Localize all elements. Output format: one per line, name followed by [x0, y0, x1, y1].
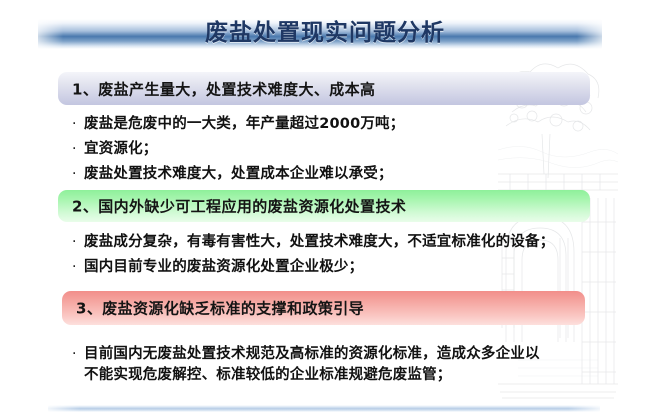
bullet-dot-icon: ·: [72, 164, 84, 185]
bullet-dot-icon: ·: [72, 257, 84, 278]
list-item: · 国内目前专业的废盐资源化处置企业极少；: [72, 257, 632, 278]
bullet-text: 废盐成分复杂，有毒有害性大，处置技术难度大，不适宜标准化的设备；: [84, 232, 554, 253]
bullet-text: 废盐处置技术难度大，处置成本企业难以承受；: [84, 164, 393, 185]
list-item: · 宜资源化；: [72, 139, 592, 160]
section-1-bullets: · 废盐是危废中的一大类，年产量超过2000万吨； · 宜资源化； · 废盐处置…: [72, 114, 592, 189]
section-2-bullets: · 废盐成分复杂，有毒有害性大，处置技术难度大，不适宜标准化的设备； · 国内目…: [72, 232, 632, 282]
bullet-text: 宜资源化；: [84, 139, 158, 160]
section-header-2: 2、国内外缺少可工程应用的废盐资源化处置技术: [58, 190, 590, 222]
bullet-text: 废盐是危废中的一大类，年产量超过2000万吨；: [84, 114, 404, 135]
page-title: 废盐处置现实问题分析: [0, 13, 650, 47]
section-header-3: 3、废盐资源化缺乏标准的支撑和政策引导: [62, 291, 585, 325]
bullet-dot-icon: ·: [72, 344, 84, 365]
section-3-heading: 3、废盐资源化缺乏标准的支撑和政策引导: [76, 298, 364, 319]
bullet-text: 国内目前专业的废盐资源化处置企业极少；: [84, 257, 363, 278]
section-3-bullets: · 目前国内无废盐处置技术规范及高标准的资源化标准，造成众多企业以 不能实现危废…: [72, 344, 592, 390]
bullet-text: 目前国内无废盐处置技术规范及高标准的资源化标准，造成众多企业以 不能实现危废解控…: [84, 344, 540, 386]
bottom-accent-band: [48, 405, 600, 412]
list-item: · 目前国内无废盐处置技术规范及高标准的资源化标准，造成众多企业以 不能实现危废…: [72, 344, 592, 386]
bullet-dot-icon: ·: [72, 114, 84, 135]
section-header-1: 1、废盐产生量大，处置技术难度大、成本高: [58, 72, 590, 105]
bullet-dot-icon: ·: [72, 232, 84, 253]
list-item: · 废盐成分复杂，有毒有害性大，处置技术难度大，不适宜标准化的设备；: [72, 232, 632, 253]
list-item: · 废盐处置技术难度大，处置成本企业难以承受；: [72, 164, 592, 185]
bullet-dot-icon: ·: [72, 139, 84, 160]
slide-canvas: 废盐处置现实问题分析 1、废盐产生量大，处置技术难度大、成本高 · 废盐是危废中…: [0, 0, 650, 418]
section-1-heading: 1、废盐产生量大，处置技术难度大、成本高: [72, 78, 375, 99]
list-item: · 废盐是危废中的一大类，年产量超过2000万吨；: [72, 114, 592, 135]
section-2-heading: 2、国内外缺少可工程应用的废盐资源化处置技术: [72, 196, 406, 217]
